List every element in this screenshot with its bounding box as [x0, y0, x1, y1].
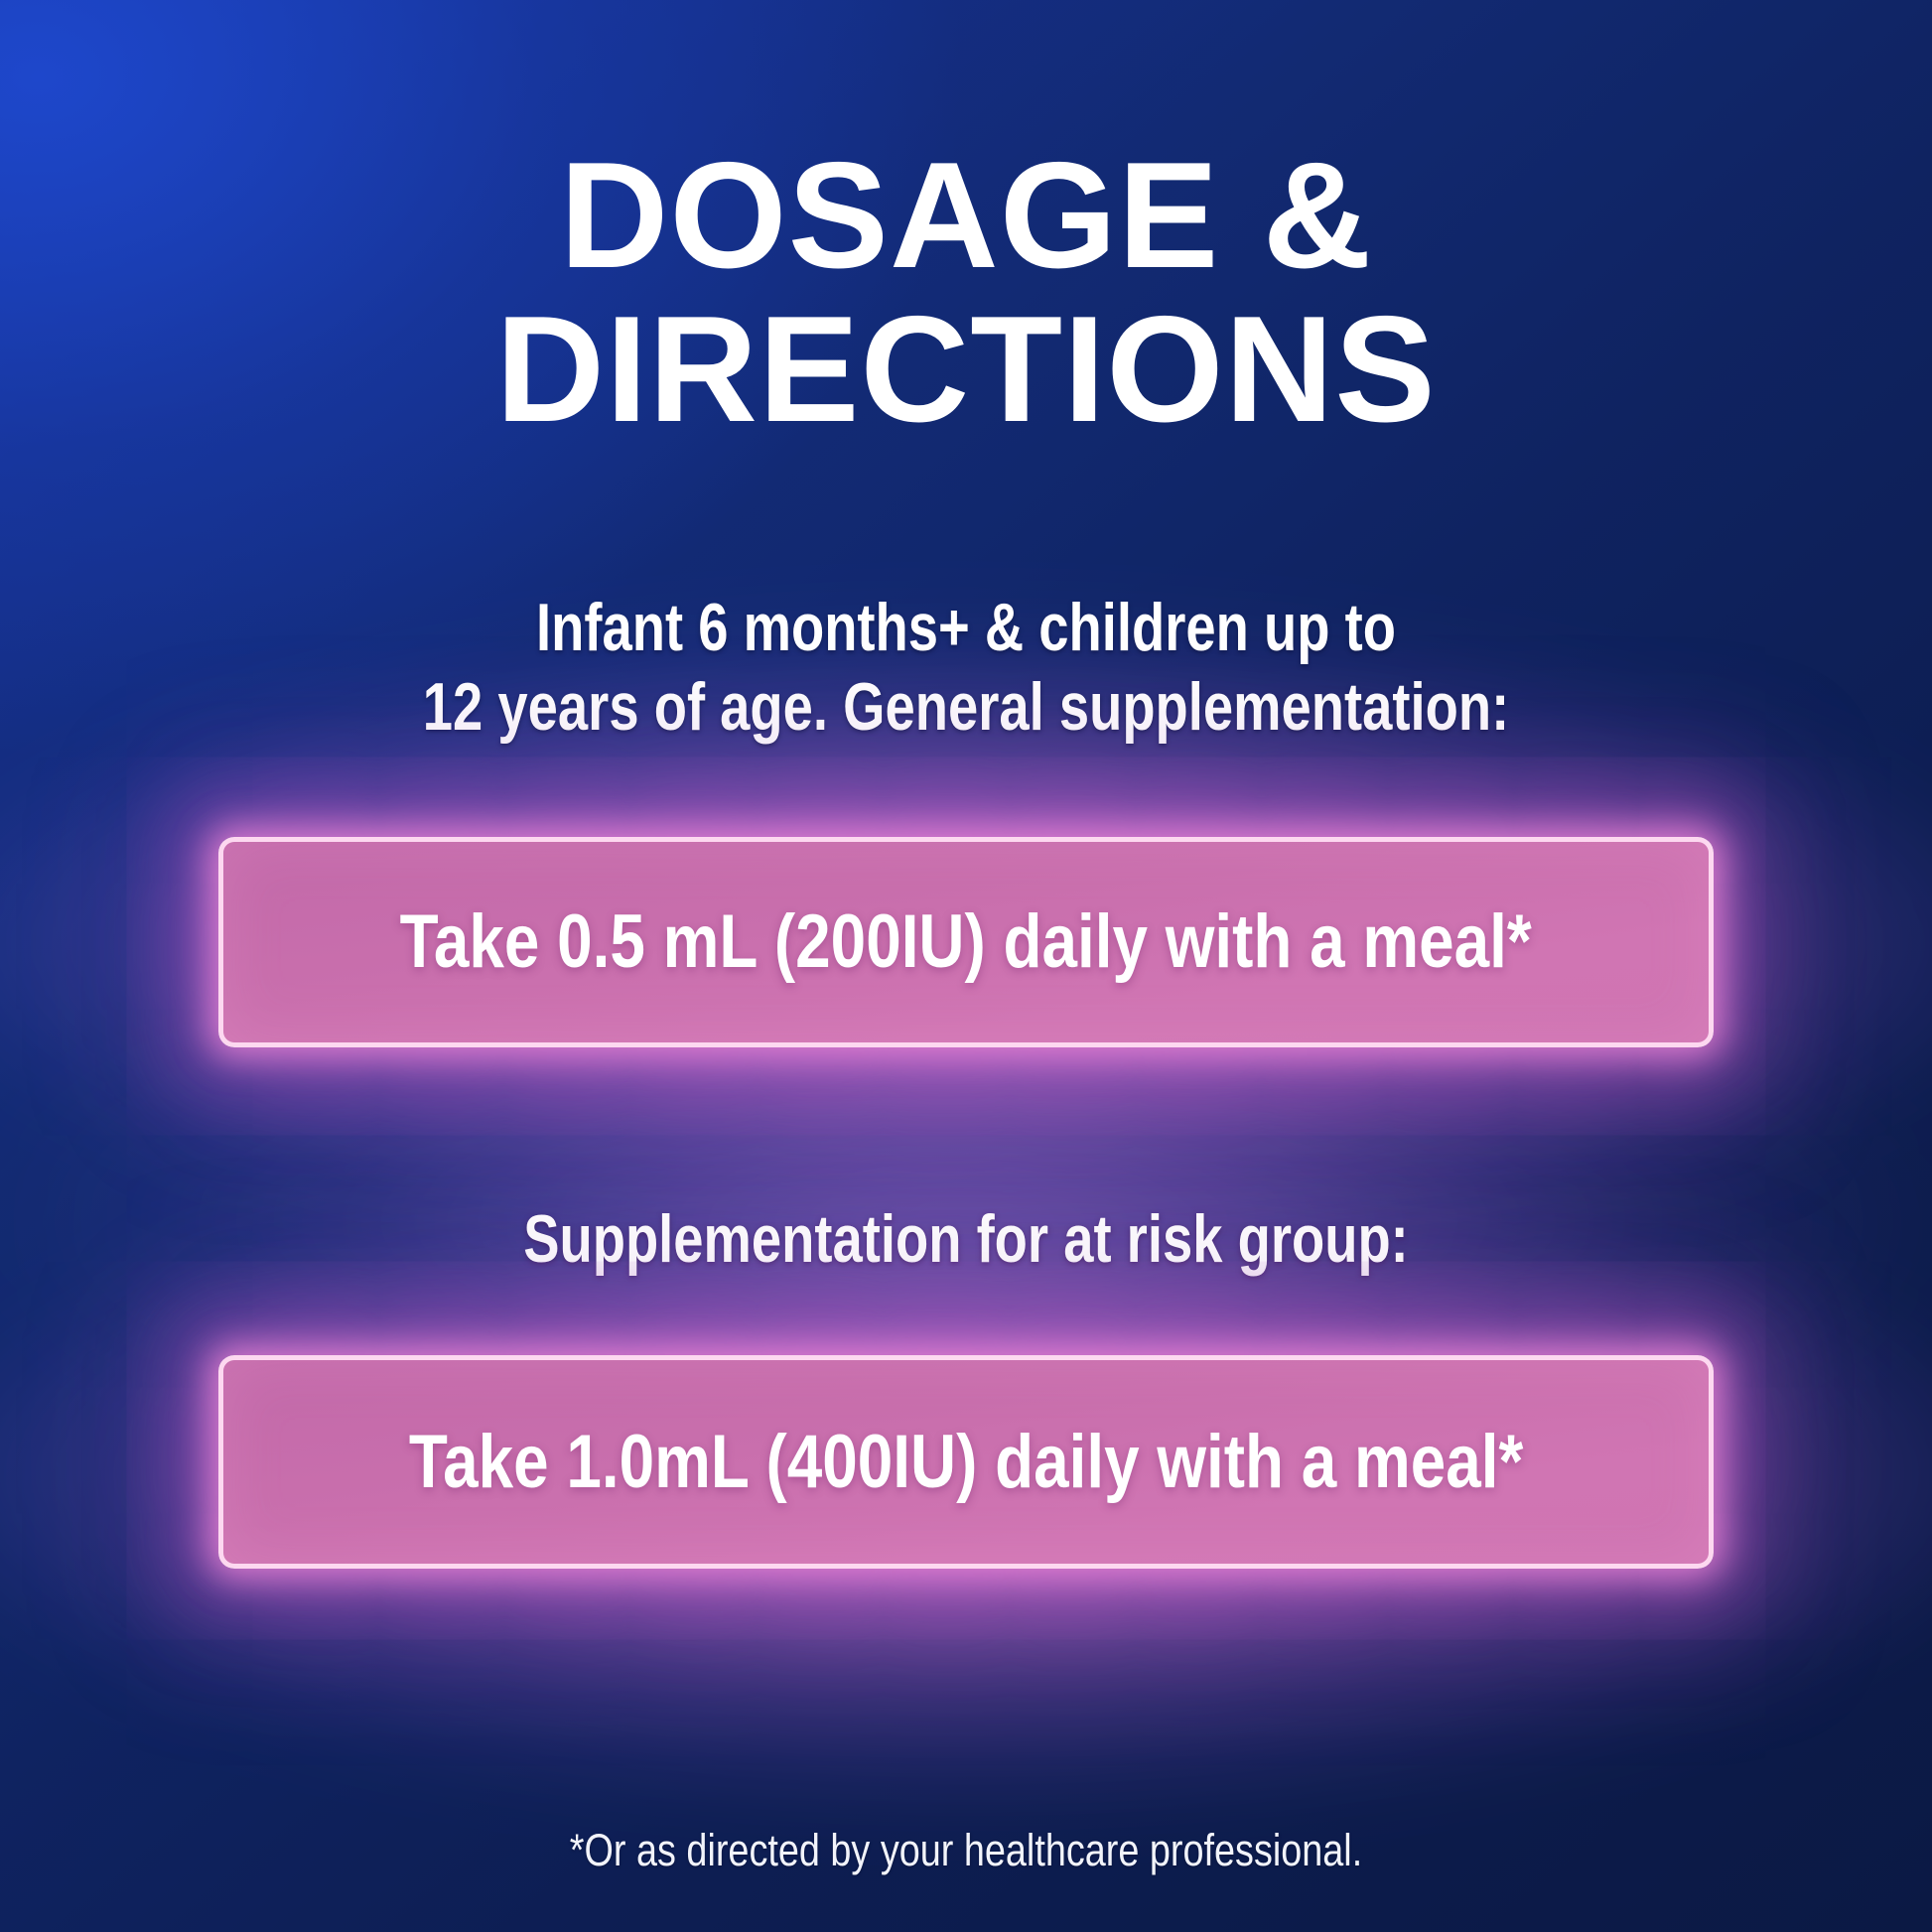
dosage-directions-poster: DOSAGE & DIRECTIONS Infant 6 months+ & c…	[0, 0, 1932, 1932]
section-1-heading-line-2: 12 years of age. General supplementation…	[194, 667, 1739, 747]
section-1-heading: Infant 6 months+ & children up to 12 yea…	[194, 588, 1739, 747]
section-2-heading: Supplementation for at risk group:	[194, 1199, 1739, 1279]
section-1-heading-line-1: Infant 6 months+ & children up to	[194, 588, 1739, 667]
dose-instruction-box-at-risk: Take 1.0mL (400IU) daily with a meal*	[218, 1355, 1714, 1569]
footnote-disclaimer: *Or as directed by your healthcare profe…	[155, 1825, 1778, 1876]
dose-instruction-box-general: Take 0.5 mL (200IU) daily with a meal*	[218, 837, 1714, 1047]
poster-content: DOSAGE & DIRECTIONS Infant 6 months+ & c…	[0, 0, 1932, 1932]
section-2-heading-line-1: Supplementation for at risk group:	[523, 1201, 1409, 1277]
dose-instruction-text-at-risk: Take 1.0mL (400IU) daily with a meal*	[409, 1425, 1523, 1500]
page-title-line-2: DIRECTIONS	[0, 293, 1932, 447]
page-title: DOSAGE & DIRECTIONS	[0, 139, 1932, 447]
dose-instruction-text-general: Take 0.5 mL (200IU) daily with a meal*	[400, 904, 1532, 980]
page-title-line-1: DOSAGE &	[0, 139, 1932, 293]
